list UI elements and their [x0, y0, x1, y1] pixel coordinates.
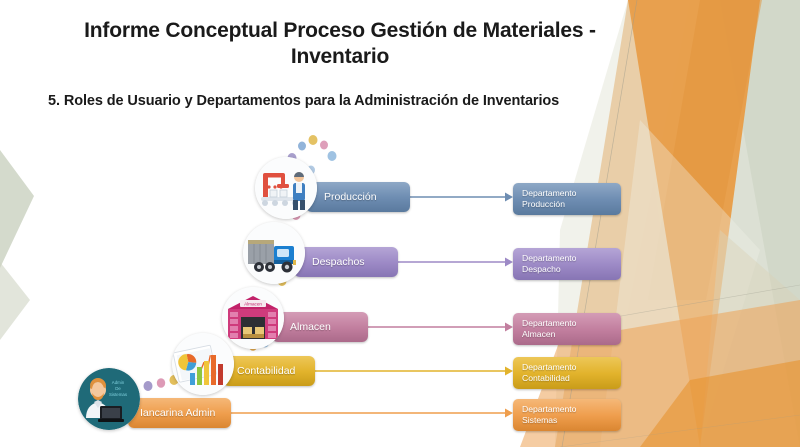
dept-label-despachos-line1: Departamento	[522, 253, 621, 264]
role-label-despachos: Despachos	[312, 256, 365, 268]
dept-label-contabilidad-line2: Contabilidad	[522, 373, 621, 384]
connector-arrow-admin	[231, 407, 513, 419]
role-label-admin: Iancarina Admin	[140, 407, 215, 419]
dept-label-sistemas-line2: Sistemas	[522, 415, 621, 426]
slide-canvas: Informe Conceptual Proceso Gestión de Ma…	[0, 0, 800, 447]
role-box-almacen[interactable]: Almacen	[272, 312, 368, 342]
dept-label-almacen-line1: Departamento	[522, 318, 621, 329]
dept-label-produccion-line1: Departamento	[522, 188, 621, 199]
dept-box-almacen[interactable]: Departamento Almacen	[513, 313, 621, 345]
warehouse-icon: Almacen	[222, 287, 284, 349]
role-box-despachos[interactable]: Despachos	[294, 247, 398, 277]
dept-box-contabilidad[interactable]: Departamento Contabilidad	[513, 357, 621, 389]
delivery-truck-icon	[243, 222, 305, 284]
dept-box-sistemas[interactable]: Departamento Sistemas	[513, 399, 621, 431]
role-box-produccion[interactable]: Producción	[306, 182, 410, 212]
role-label-produccion: Producción	[324, 191, 377, 203]
dept-label-despachos-line2: Despacho	[522, 264, 621, 275]
role-box-contabilidad[interactable]: Contabilidad	[223, 356, 315, 386]
connector-arrow-almacen	[368, 321, 513, 333]
factory-production-icon	[255, 157, 317, 219]
svg-text:Almacen: Almacen	[244, 302, 262, 307]
dept-label-contabilidad-line1: Departamento	[522, 362, 621, 373]
dept-label-produccion-line2: Producción	[522, 199, 621, 210]
role-label-almacen: Almacen	[290, 321, 331, 333]
role-box-admin[interactable]: Iancarina Admin	[128, 398, 231, 428]
charts-accounting-icon	[172, 333, 234, 395]
dept-box-despachos[interactable]: Departamento Despacho	[513, 248, 621, 280]
roles-departments-diagram: Producción	[0, 0, 800, 447]
dept-label-almacen-line2: Almacen	[522, 329, 621, 340]
connector-arrow-contabilidad	[315, 365, 513, 377]
connector-arrow-despachos	[398, 256, 513, 268]
svg-text:De: De	[115, 386, 121, 391]
role-label-contabilidad: Contabilidad	[237, 365, 295, 377]
dept-box-produccion[interactable]: Departamento Producción	[513, 183, 621, 215]
connector-arrow-produccion	[410, 191, 513, 203]
svg-text:Admin: Admin	[112, 380, 125, 385]
system-admin-person-icon: Admin De Sistemas	[78, 368, 140, 430]
svg-text:Sistemas: Sistemas	[109, 392, 128, 397]
dept-label-sistemas-line1: Departamento	[522, 404, 621, 415]
